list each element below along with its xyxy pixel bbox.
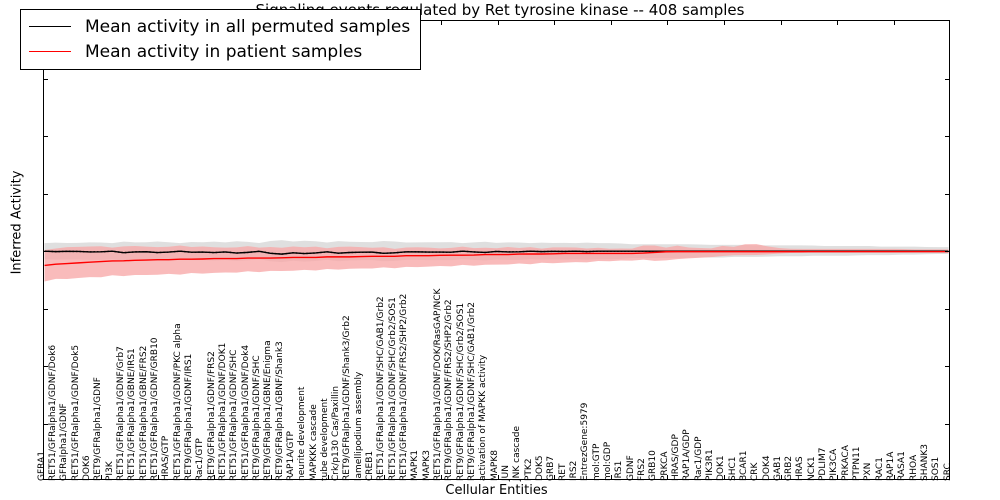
x-tick-label: BCAR1	[740, 451, 749, 481]
x-tick-label: DOK4	[763, 455, 772, 481]
x-tick-mark	[611, 21, 612, 25]
legend-entry: Mean activity in all permuted samples	[29, 14, 410, 39]
x-tick-label: RET9/GFRalpha1/GDNF/IRS1	[185, 354, 194, 481]
x-tick-label: CREB1	[366, 451, 375, 481]
x-tick-label: FRS2	[638, 458, 647, 481]
y-tick-mark	[44, 79, 48, 80]
x-tick-label: SHC1	[729, 457, 738, 482]
x-tick-label: GRB10	[649, 450, 658, 481]
x-tick-label: PIK3R1	[706, 449, 715, 481]
x-tick-mark	[554, 21, 555, 25]
x-tick-label: activation of MAPKK activity	[479, 355, 488, 481]
x-tick-label: RET9/GFRalpha1/GDNF/Shank3/Grb2	[343, 315, 352, 481]
x-tick-label: RET51/GFRalpha1/GDNF/Dok5	[72, 345, 81, 481]
x-tick-label: RHOA	[910, 455, 919, 481]
x-tick-label: MAPK1	[411, 450, 420, 481]
x-tick-mark	[781, 21, 782, 25]
x-tick-label: GRB2	[785, 456, 794, 481]
x-tick-label: MAPK8	[491, 450, 500, 481]
y-tick-mark	[44, 309, 48, 310]
x-tick-label: GFRalpha1/GDNF	[60, 403, 69, 481]
x-tick-label: RAC1	[876, 457, 885, 481]
x-tick-label: PI3K	[106, 461, 115, 481]
x-axis-label: Cellular Entities	[43, 483, 950, 498]
chart-legend: Mean activity in all permuted samples Me…	[20, 9, 421, 70]
x-tick-mark	[894, 21, 895, 25]
y-tick-mark	[945, 194, 949, 195]
x-tick-label: DOK1	[717, 455, 726, 481]
x-tick-label: RET51/GFRalpha1/GDNF/GRB10	[151, 337, 160, 481]
x-tick-label: RET9/GFRalpha1/GBNF/Shank3	[276, 341, 285, 481]
x-tick-label: MAPKKK cascade	[310, 404, 319, 481]
x-tick-label: DOK5	[536, 455, 545, 481]
x-tick-label: RET51/GFRalpha1/GBNE/IRS1	[128, 348, 137, 481]
x-tick-label: NCK1	[808, 456, 817, 481]
x-tick-label: RET9/GFRalpha1/GDNF	[94, 377, 103, 481]
x-tick-label: GDNF	[627, 455, 636, 481]
x-tick-label: HRAS/GDP	[672, 434, 681, 481]
x-tick-label: PTK2	[525, 458, 534, 481]
x-tick-label: RET9/GFRalpha1/GDNF/SHC/GAB1/Grb2	[468, 302, 477, 481]
legend-label-permuted: Mean activity in all permuted samples	[85, 17, 410, 37]
x-tick-label: IRS2	[570, 461, 579, 481]
x-tick-mark	[441, 21, 442, 25]
y-tick-mark	[945, 251, 949, 252]
legend-swatch-permuted	[29, 26, 71, 27]
x-tick-label: tube development	[321, 398, 330, 481]
x-tick-label: RET51/GFRalpha1/GDNF/DOK/RasGAP/NCK	[434, 289, 443, 481]
x-tick-label: CRK	[751, 463, 760, 481]
x-tick-label: GAB1	[774, 456, 783, 481]
x-tick-label: RET51/GFRalpha1/GDNF/SHC/Grb2/SOS1	[389, 297, 398, 481]
x-tick-label: mol:GDP	[604, 442, 613, 481]
x-tick-label: PDLIM7	[819, 447, 828, 481]
x-tick-label: Rac1/GTP	[196, 438, 205, 481]
x-tick-label: GFRA1	[38, 451, 47, 481]
x-tick-label: RET9/GFRalpha1/GDNF/FRS2/SHP2/Grb2	[445, 299, 454, 481]
y-axis-label: Inferred Activity	[10, 13, 25, 433]
x-tick-label: RET51/GFRalpha1/GDNF/Grb7	[117, 346, 126, 481]
x-tick-label: HRAS	[796, 456, 805, 481]
x-tick-mark	[837, 21, 838, 25]
x-tick-mark	[724, 21, 725, 25]
x-tick-label: RAP1A	[887, 452, 896, 481]
y-tick-mark	[945, 79, 949, 80]
x-tick-label: lamellipodium assembly	[355, 372, 364, 481]
x-tick-label: RET51/GFRalpha1/GDNF/SHC/GAB1/Grb2	[377, 296, 386, 481]
x-tick-label: Crk/p130 Cas/Paxillin	[332, 386, 341, 481]
chart-figure: Signaling events regulated by Ret tyrosi…	[0, 0, 1000, 500]
x-tick-label: PRKCA	[661, 451, 670, 481]
x-tick-label: Rac1/GDP	[695, 436, 704, 481]
x-tick-label: SHANK3	[921, 444, 930, 481]
x-tick-label: JNK cascade	[513, 426, 522, 481]
x-tick-label: RET51/GFRalpha1/GDNF/Dok6	[49, 345, 58, 481]
x-tick-label: JUN	[502, 465, 511, 481]
y-tick-mark	[945, 366, 949, 367]
x-tick-label: mol:GTP	[593, 444, 602, 481]
x-tick-label: HRAS/GTP	[162, 436, 171, 481]
x-tick-label: RET51/GFRalpha1/GDNF/DOK1	[219, 343, 228, 481]
x-tick-label: RAP1A/GTP	[287, 431, 296, 481]
x-tick-label: RET9/GFRalpha1/GDNF/FRS2	[208, 351, 217, 481]
legend-label-patient: Mean activity in patient samples	[85, 42, 362, 62]
x-tick-mark	[667, 21, 668, 25]
series-band-patient	[44, 244, 948, 281]
x-tick-label: PTPN11	[853, 446, 862, 481]
x-tick-label: neurite development	[298, 387, 307, 481]
x-tick-label: SOS1	[932, 457, 941, 481]
x-tick-label: SRC	[944, 463, 953, 481]
legend-swatch-patient	[29, 51, 71, 52]
x-tick-label: DOK6	[83, 455, 92, 481]
x-tick-label: PRKACA	[842, 445, 851, 481]
y-tick-mark	[44, 136, 48, 137]
y-tick-mark	[44, 251, 48, 252]
x-tick-label: RET9/GFRalpha1/GBNE/Enigma	[264, 340, 273, 481]
legend-entry: Mean activity in patient samples	[29, 39, 410, 64]
x-tick-label: PXN	[864, 463, 873, 481]
x-tick-label: RET51/GFRalpha1/GDNF/PKC alpha	[174, 323, 183, 481]
y-tick-mark	[945, 424, 949, 425]
x-tick-label: PIK3CA	[830, 449, 839, 481]
x-tick-label: RET51/GFRalpha1/GDNF/FRS2/SHP2/Grb2	[400, 294, 409, 481]
x-tick-label: RET51/GFRalpha1/GDNF/SHC	[230, 350, 239, 481]
x-tick-label: RET51/GFRalpha1/GDNF/Dok4	[242, 345, 251, 481]
x-tick-label: RET51/GFRalpha1/GBNE/FRS2	[140, 346, 149, 481]
x-tick-label: GRB7	[547, 456, 556, 481]
y-tick-mark	[44, 194, 48, 195]
x-tick-label: MAPK3	[423, 450, 432, 481]
x-tick-mark	[498, 21, 499, 25]
x-tick-label: RASA1	[898, 451, 907, 481]
x-tick-label: RAP1A/GDP	[683, 429, 692, 481]
y-tick-mark	[945, 309, 949, 310]
y-tick-mark	[945, 136, 949, 137]
x-tick-label: RET9/GFRalpha1/GDNF/SHC/Grb2/SOS1	[457, 303, 466, 481]
x-tick-label: EntrezGene:5979	[581, 403, 590, 481]
x-tick-label: RET9/GFRalpha1/GDNF/SHC	[253, 355, 262, 481]
x-tick-label: RET	[559, 464, 568, 481]
x-tick-label: IRS1	[615, 461, 624, 481]
